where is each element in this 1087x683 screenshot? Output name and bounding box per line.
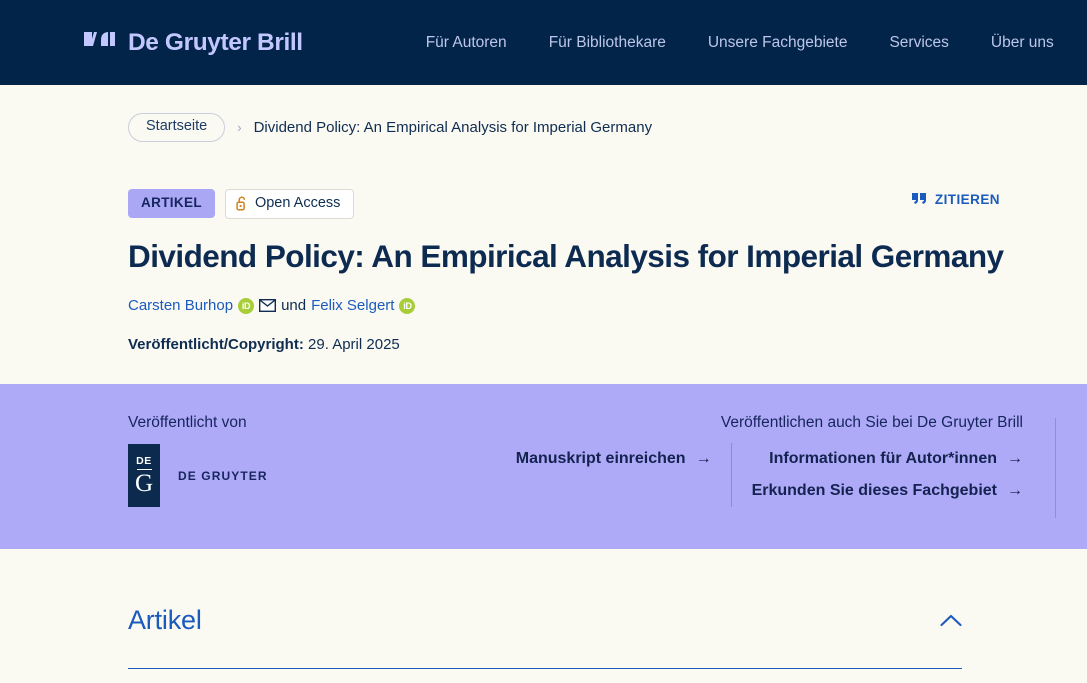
artikel-section: Artikel xyxy=(0,605,1087,669)
brand-logo-link[interactable]: De Gruyter Brill xyxy=(84,29,303,57)
author-information-label: Informationen für Autor*innen xyxy=(769,443,997,475)
breadcrumb: Startseite › Dividend Policy: An Empiric… xyxy=(128,85,1047,142)
publisher-tagline: Veröffentlichen auch Sie bei De Gruyter … xyxy=(516,414,1023,432)
publisher-links: Manuskript einreichen → Informationen fü… xyxy=(516,443,1023,507)
banner-vertical-divider xyxy=(1055,418,1056,518)
de-gruyter-logo-top: DE xyxy=(136,455,152,467)
artikel-section-header[interactable]: Artikel xyxy=(128,605,962,669)
open-access-label: Open Access xyxy=(255,196,340,212)
published-by-label: Veröffentlicht von xyxy=(128,414,516,432)
de-gruyter-logo-bottom: G xyxy=(135,472,153,496)
publisher-links-left: Manuskript einreichen → xyxy=(516,443,731,475)
article-type-badge[interactable]: ARTIKEL xyxy=(128,189,215,218)
site-header: De Gruyter Brill Für Autoren Für Bibliot… xyxy=(0,0,1087,85)
breadcrumb-home[interactable]: Startseite xyxy=(128,113,225,142)
nav-item-fur-bibliothekare[interactable]: Für Bibliothekare xyxy=(549,34,666,52)
submit-manuscript-label: Manuskript einreichen xyxy=(516,443,686,475)
nav-item-fur-autoren[interactable]: Für Autoren xyxy=(426,34,507,52)
brand-name: De Gruyter Brill xyxy=(128,29,303,57)
author-conjunction: und xyxy=(281,297,306,314)
author-link-2[interactable]: Felix Selgert xyxy=(311,297,394,314)
nav-item-unsere-fachgebiete[interactable]: Unsere Fachgebiete xyxy=(708,34,848,52)
author-list: Carsten Burhop iD und Felix Selgert iD xyxy=(128,297,1047,314)
publisher-logo-row: DE G DE GRUYTER xyxy=(128,444,516,507)
nav-item-services[interactable]: Services xyxy=(889,34,948,52)
nav-item-uber-uns[interactable]: Über uns xyxy=(991,34,1054,52)
explore-subject-label: Erkunden Sie dieses Fachgebiet xyxy=(752,475,997,507)
publication-date-label: Veröffentlicht/Copyright: xyxy=(128,336,304,353)
de-gruyter-logo[interactable]: DE G xyxy=(128,444,160,507)
email-icon[interactable] xyxy=(259,299,276,312)
open-lock-icon xyxy=(236,196,248,211)
quote-icon xyxy=(912,193,927,205)
breadcrumb-current: Dividend Policy: An Empirical Analysis f… xyxy=(254,119,652,136)
publisher-cta: Veröffentlichen auch Sie bei De Gruyter … xyxy=(516,414,1087,549)
arrow-right-icon: → xyxy=(1007,475,1023,507)
publisher-name: DE GRUYTER xyxy=(178,469,268,483)
explore-subject-link[interactable]: Erkunden Sie dieses Fachgebiet → xyxy=(752,475,1023,507)
page-title: Dividend Policy: An Empirical Analysis f… xyxy=(128,238,1047,275)
main-navigation: Für Autoren Für Bibliothekare Unsere Fac… xyxy=(426,34,1054,52)
cite-button-label: ZITIEREN xyxy=(935,192,1000,207)
article-header-section: Startseite › Dividend Policy: An Empiric… xyxy=(0,85,1087,353)
chevron-up-icon[interactable] xyxy=(940,614,962,627)
quote-mark-logo-icon xyxy=(84,32,115,54)
publication-date-value: 29. April 2025 xyxy=(308,336,400,353)
orcid-icon-1[interactable]: iD xyxy=(238,298,254,314)
open-access-badge[interactable]: Open Access xyxy=(225,189,354,219)
publisher-banner: Veröffentlicht von DE G DE GRUYTER Veröf… xyxy=(0,384,1087,549)
publisher-info: Veröffentlicht von DE G DE GRUYTER xyxy=(128,414,516,549)
submit-manuscript-link[interactable]: Manuskript einreichen → xyxy=(516,443,712,475)
publisher-links-right: Informationen für Autor*innen → Erkunden… xyxy=(731,443,1023,507)
orcid-icon-2[interactable]: iD xyxy=(399,298,415,314)
arrow-right-icon: → xyxy=(696,443,712,475)
author-link-1[interactable]: Carsten Burhop xyxy=(128,297,233,314)
arrow-right-icon: → xyxy=(1007,443,1023,475)
article-badge-row: ARTIKEL Open Access ZITIEREN xyxy=(128,189,1047,219)
cite-button[interactable]: ZITIEREN xyxy=(912,192,1000,207)
artikel-section-title: Artikel xyxy=(128,605,202,636)
author-information-link[interactable]: Informationen für Autor*innen → xyxy=(769,443,1023,475)
publication-date: Veröffentlicht/Copyright: 29. April 2025 xyxy=(128,336,1047,353)
breadcrumb-separator-icon: › xyxy=(235,120,243,135)
